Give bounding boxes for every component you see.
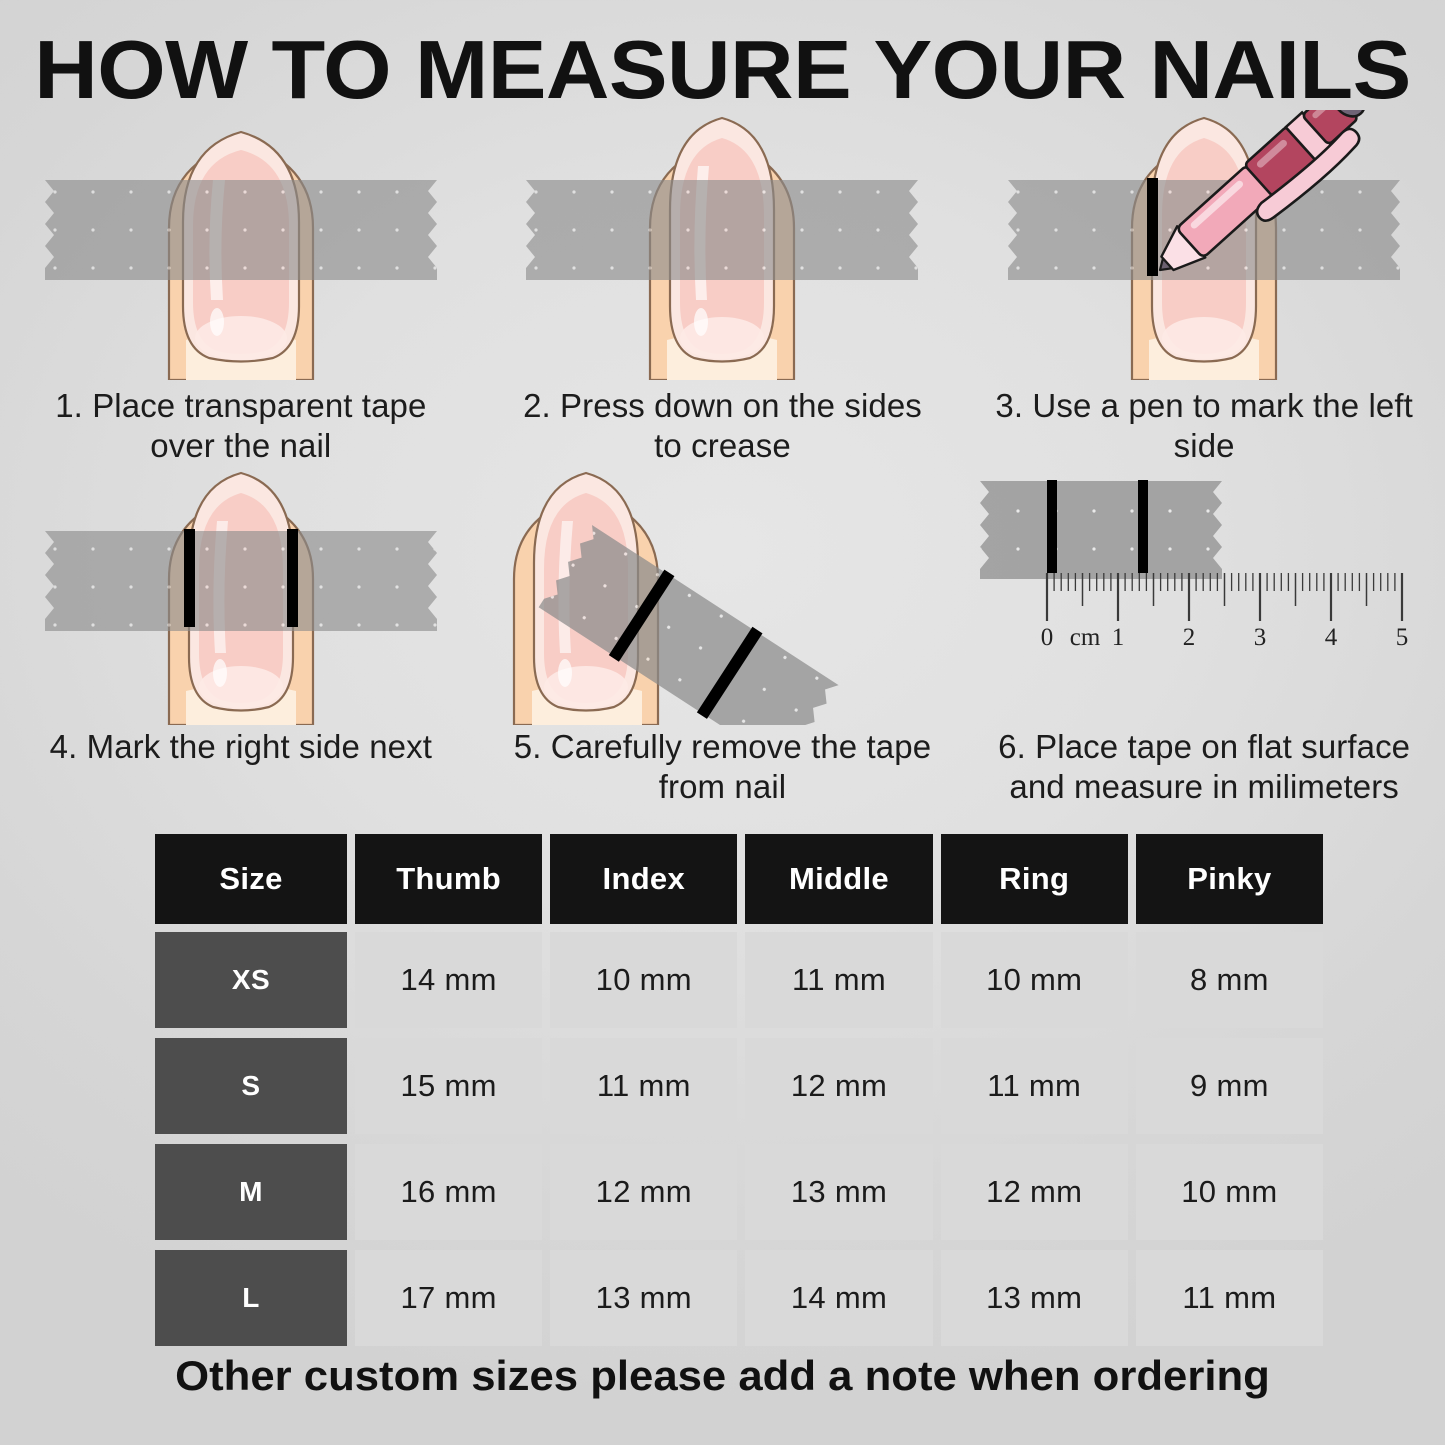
ruler-unit-label: cm: [1070, 624, 1101, 651]
step-3: 3. Use a pen to mark the left side: [963, 110, 1445, 467]
cell-thumb: 14 mm: [355, 932, 542, 1028]
ruler-label-3: 3: [1254, 624, 1267, 651]
illustration-finger-with-creased-tape: [492, 110, 952, 380]
page-title: HOW TO MEASURE YOUR NAILS: [0, 22, 1445, 118]
cell-middle: 12 mm: [745, 1038, 932, 1134]
cell-ring: 10 mm: [941, 932, 1128, 1028]
cell-pinky: 11 mm: [1136, 1250, 1323, 1346]
header-middle: Middle: [745, 834, 932, 924]
table-row: L 17 mm 13 mm 14 mm 13 mm 11 mm: [155, 1250, 1323, 1346]
mark-right: [287, 529, 298, 627]
size-label: S: [155, 1038, 347, 1134]
step-1: 1. Place transparent tape over the nail: [0, 110, 482, 467]
step-2-caption: 2. Press down on the sides to crease: [512, 386, 932, 467]
custom-size-note: Other custom sizes please add a note whe…: [0, 1352, 1445, 1400]
cell-pinky: 10 mm: [1136, 1144, 1323, 1240]
table-header-row: Size Thumb Index Middle Ring Pinky: [155, 834, 1323, 924]
ruler-labels: 0 cm 1 2 3 4 5: [1041, 624, 1409, 651]
illustration-finger-with-tape: [11, 110, 471, 380]
illustration-finger-tape-pen-left-mark: [974, 110, 1434, 380]
ruler-label-4: 4: [1325, 624, 1338, 651]
mark-left: [1047, 480, 1057, 573]
ruler-label-5: 5: [1396, 624, 1409, 651]
header-ring: Ring: [941, 834, 1128, 924]
cell-middle: 14 mm: [745, 1250, 932, 1346]
step-1-caption: 1. Place transparent tape over the nail: [31, 386, 451, 467]
header-thumb: Thumb: [355, 834, 542, 924]
header-pinky: Pinky: [1136, 834, 1323, 924]
step-6-caption: 6. Place tape on flat surface and measur…: [994, 727, 1414, 808]
table-row: M 16 mm 12 mm 13 mm 12 mm 10 mm: [155, 1144, 1323, 1240]
illustration-finger-tape-two-marks: [11, 467, 471, 725]
cell-ring: 11 mm: [941, 1038, 1128, 1134]
step-2: 2. Press down on the sides to crease: [482, 110, 964, 467]
cell-pinky: 9 mm: [1136, 1038, 1323, 1134]
ruler-ticks: [1047, 573, 1402, 621]
cell-index: 10 mm: [550, 932, 737, 1028]
size-label: L: [155, 1250, 347, 1346]
size-label: XS: [155, 932, 347, 1028]
step-6: 0 cm 1 2 3 4 5 6. Place tape on flat sur…: [963, 467, 1445, 808]
cell-index: 11 mm: [550, 1038, 737, 1134]
step-5-caption: 5. Carefully remove the tape from nail: [512, 727, 932, 808]
mark-left: [1147, 178, 1158, 276]
ruler-label-0: 0: [1041, 624, 1054, 651]
step-5: 5. Carefully remove the tape from nail: [482, 467, 964, 808]
illustration-tape-peeled-from-nail: [492, 467, 952, 725]
mark-right: [1138, 480, 1148, 573]
steps-grid: 1. Place transparent tape over the nail: [0, 110, 1445, 807]
header-index: Index: [550, 834, 737, 924]
illustration-tape-on-ruler: 0 cm 1 2 3 4 5: [974, 467, 1434, 725]
step-4: 4. Mark the right side next: [0, 467, 482, 808]
cell-thumb: 15 mm: [355, 1038, 542, 1134]
cell-pinky: 8 mm: [1136, 932, 1323, 1028]
cell-index: 12 mm: [550, 1144, 737, 1240]
ruler-label-1: 1: [1112, 624, 1125, 651]
header-size: Size: [155, 834, 347, 924]
cell-middle: 11 mm: [745, 932, 932, 1028]
size-label: M: [155, 1144, 347, 1240]
cell-ring: 12 mm: [941, 1144, 1128, 1240]
size-chart-table: Size Thumb Index Middle Ring Pinky XS 14…: [155, 834, 1323, 1356]
cell-ring: 13 mm: [941, 1250, 1128, 1346]
cell-index: 13 mm: [550, 1250, 737, 1346]
cell-middle: 13 mm: [745, 1144, 932, 1240]
step-4-caption: 4. Mark the right side next: [31, 727, 451, 767]
table-row: S 15 mm 11 mm 12 mm 11 mm 9 mm: [155, 1038, 1323, 1134]
table-row: XS 14 mm 10 mm 11 mm 10 mm 8 mm: [155, 932, 1323, 1028]
mark-left: [184, 529, 195, 627]
step-3-caption: 3. Use a pen to mark the left side: [994, 386, 1414, 467]
cell-thumb: 16 mm: [355, 1144, 542, 1240]
cell-thumb: 17 mm: [355, 1250, 542, 1346]
ruler-label-2: 2: [1183, 624, 1196, 651]
